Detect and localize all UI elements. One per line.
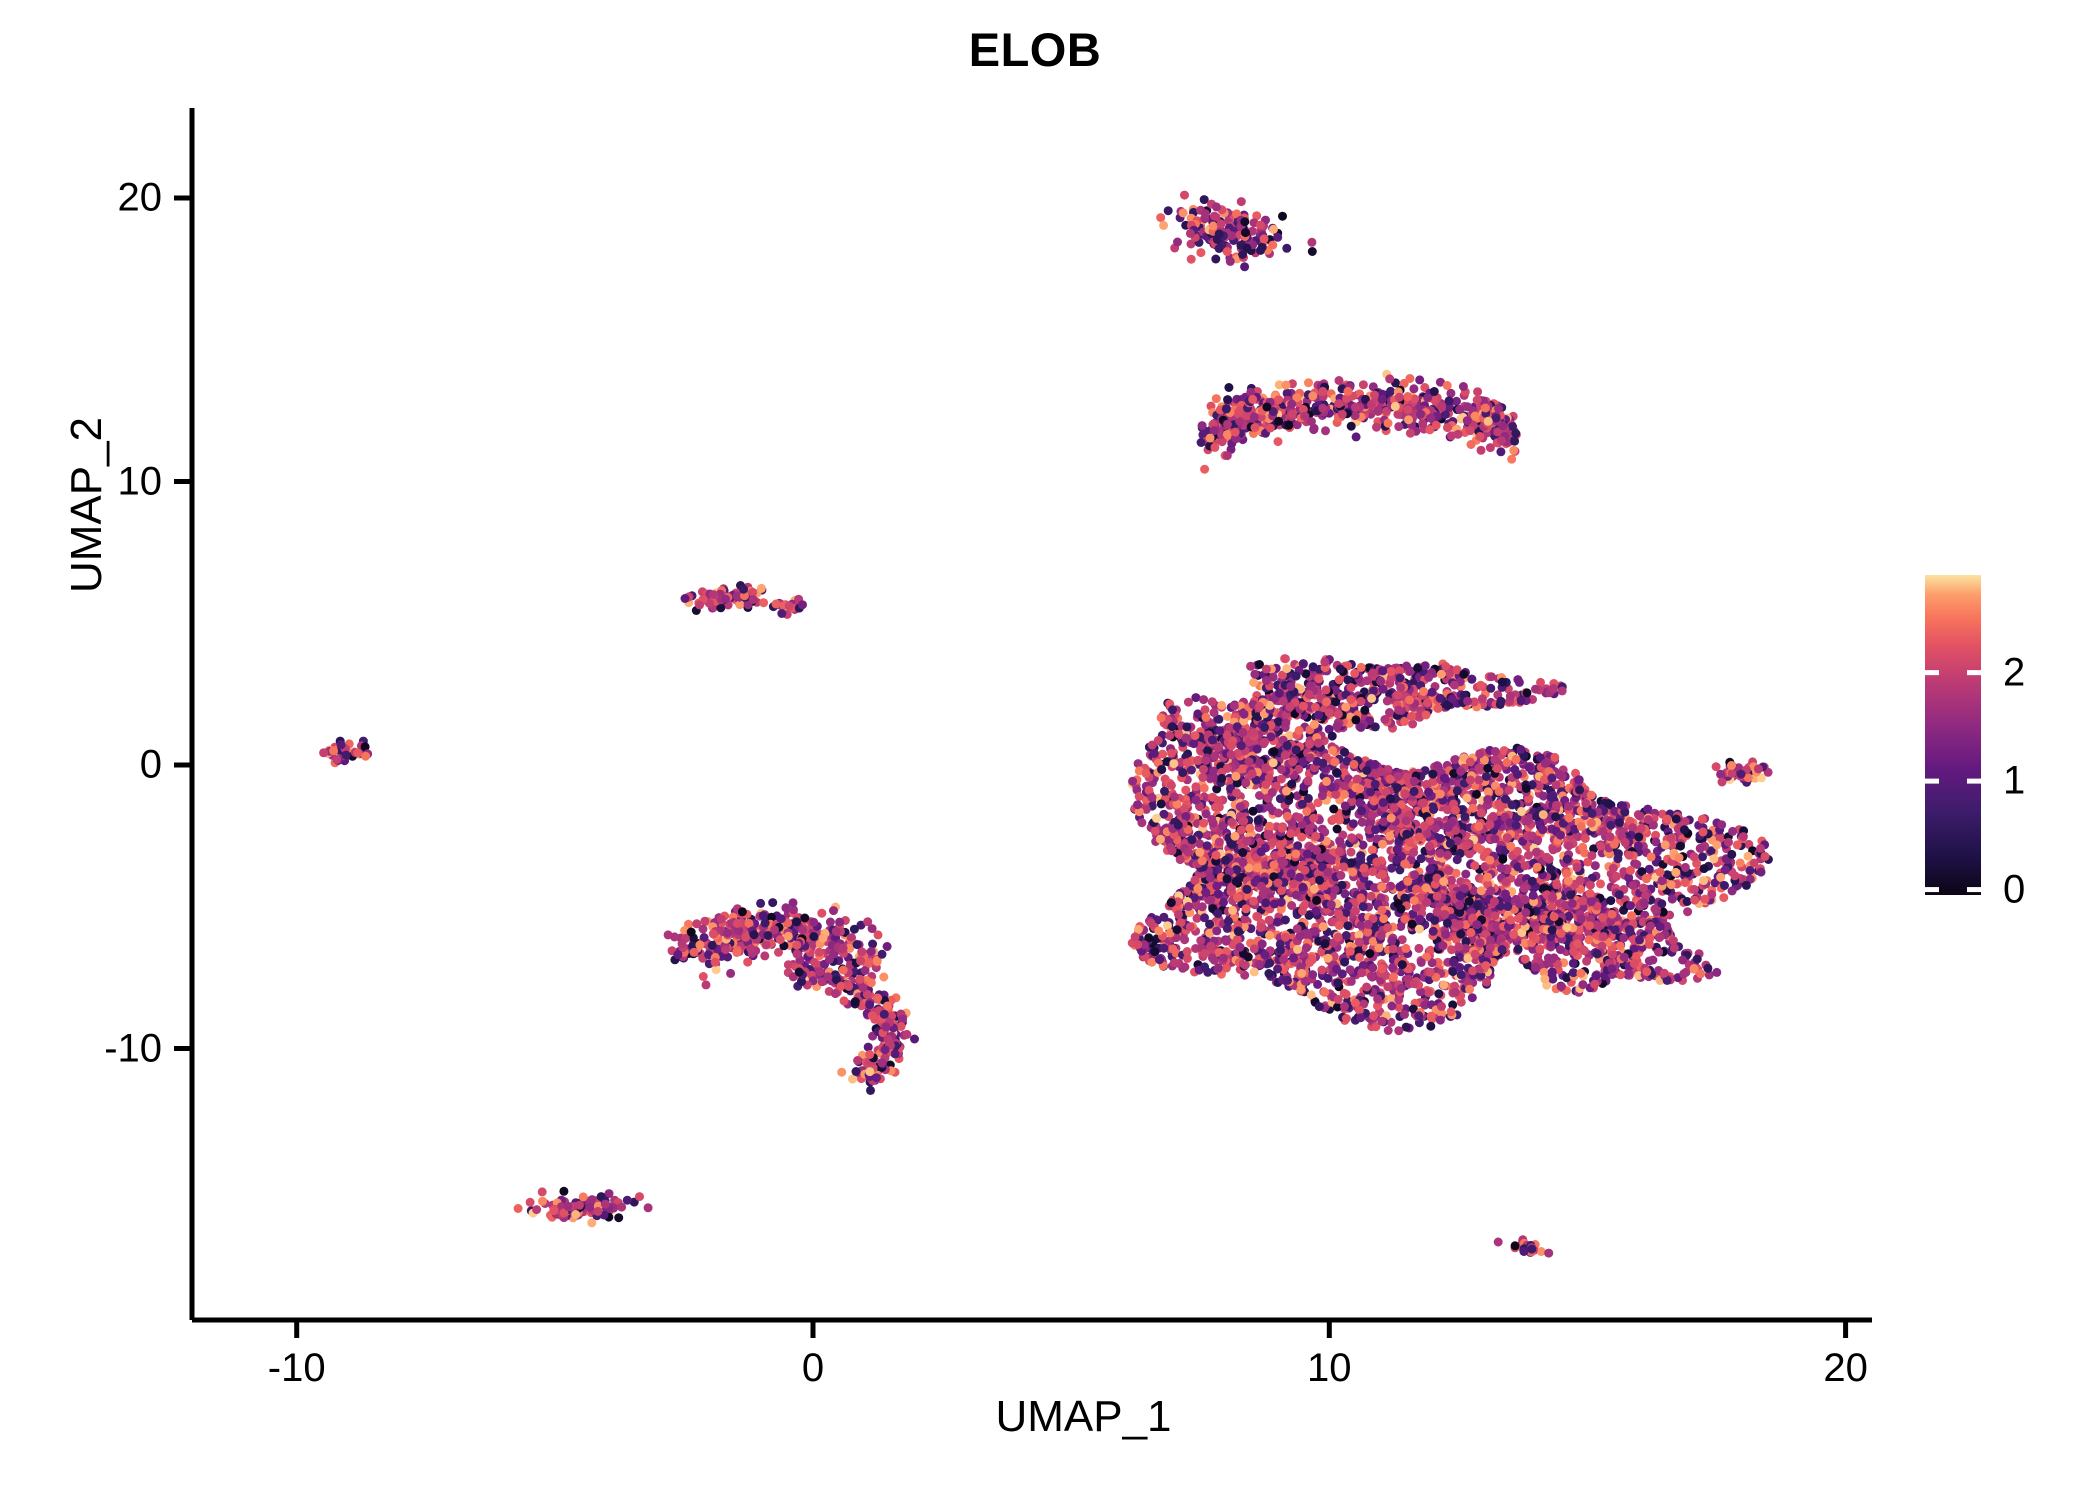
- x-tick-label: 20: [1823, 1346, 1868, 1391]
- x-tick-label: 0: [802, 1346, 824, 1391]
- x-tick-label: 10: [1307, 1346, 1352, 1391]
- axis-lines-layer: [174, 108, 1872, 1338]
- y-tick-label: 10: [118, 459, 163, 504]
- y-axis-title: UMAP_2: [62, 0, 112, 1055]
- colorbar-tick-label: 1: [2003, 759, 2025, 804]
- colorbar-tick-label: 2: [2003, 650, 2025, 695]
- x-tick-label: -10: [268, 1346, 326, 1391]
- scatter-plot-panel: [0, 0, 2100, 1500]
- x-axis-title: UMAP_1: [0, 1392, 1870, 1442]
- y-tick-label: -10: [104, 1026, 162, 1071]
- y-tick-label: 20: [118, 176, 163, 221]
- y-tick-label: 0: [140, 743, 162, 788]
- colorbar-tick-label: 0: [2003, 867, 2025, 912]
- scatter-points-layer: [319, 191, 1773, 1258]
- colorbar-legend: [1925, 575, 1981, 895]
- umap-feature-plot-figure: ELOB -1001020-1001020 012 UMAP_1 UMAP_2: [0, 0, 2100, 1500]
